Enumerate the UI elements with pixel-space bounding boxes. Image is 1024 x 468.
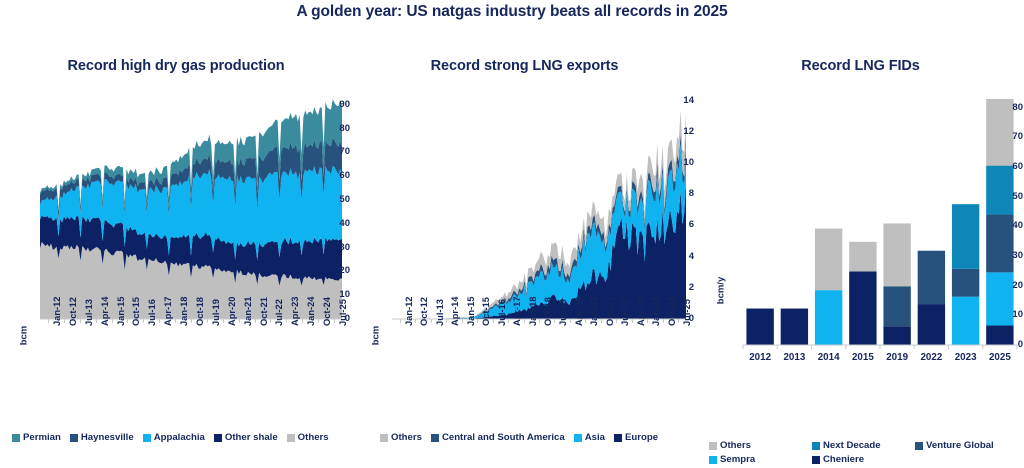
bar-segment-2022-cheniere bbox=[918, 304, 945, 345]
bar-segment-2014-others bbox=[815, 228, 842, 290]
x-tick-mark bbox=[255, 319, 256, 323]
x-tick-label: Oct-24 bbox=[667, 297, 677, 326]
x-tick-label: 2025 bbox=[983, 352, 1017, 363]
y-tick-label: 70 bbox=[991, 132, 1023, 142]
legend-dry-gas-item-other-shale[interactable]: Other shale bbox=[214, 432, 278, 443]
x-tick-mark bbox=[632, 319, 633, 323]
y-tick-label: 80 bbox=[991, 103, 1023, 113]
legend-dry-gas-item-haynesville[interactable]: Haynesville bbox=[70, 432, 134, 443]
x-tick-mark bbox=[601, 319, 602, 323]
panel-title-lng-exports: Record strong LNG exports bbox=[352, 58, 697, 74]
bar-segment-2022-venture-global bbox=[918, 251, 945, 304]
x-tick-label: Oct-15 bbox=[481, 297, 491, 326]
x-tick-mark bbox=[570, 319, 571, 323]
x-tick-label: Jan-21 bbox=[243, 297, 253, 326]
x-tick-mark bbox=[286, 319, 287, 323]
x-tick-label: 2015 bbox=[846, 352, 880, 363]
x-tick-label: 2012 bbox=[743, 352, 777, 363]
bar-segment-2019-venture-global bbox=[883, 286, 910, 326]
x-tick-mark bbox=[302, 319, 303, 323]
x-tick-label: Jul-22 bbox=[274, 299, 284, 326]
panel-lng-exports: Record strong LNG exports bcm 0246810121… bbox=[352, 40, 697, 459]
y-tick-label: 30 bbox=[322, 243, 350, 253]
x-tick-mark bbox=[678, 319, 679, 323]
y-tick-label: 70 bbox=[322, 147, 350, 157]
legend-swatch-icon bbox=[287, 434, 295, 442]
y-tick-label: 12 bbox=[666, 127, 694, 137]
bar-segment-2015-cheniere bbox=[849, 271, 876, 345]
x-tick-label: Jul-16 bbox=[147, 299, 157, 326]
bar-chart-lng-fids: 0102030405060708020122013201420152019202… bbox=[705, 85, 1023, 385]
x-tick-mark bbox=[175, 319, 176, 323]
legend-lng-exports-item-asia[interactable]: Asia bbox=[574, 432, 605, 443]
panel-lng-fids: Record LNG FIDs bcm/y 010203040506070802… bbox=[697, 40, 1024, 459]
x-tick-label: Jul-19 bbox=[211, 299, 221, 326]
legend-lng-fids: OthersNext DecadeVenture GlobalSempraChe… bbox=[709, 440, 1024, 468]
y-tick-label: 40 bbox=[991, 221, 1023, 231]
x-tick-label: 2023 bbox=[949, 352, 983, 363]
legend-dry-gas-production: PermianHaynesvilleAppalachiaOther shaleO… bbox=[12, 432, 350, 443]
x-tick-mark bbox=[554, 319, 555, 323]
legend-swatch-icon bbox=[709, 442, 717, 450]
bar-segment-2014-sempra bbox=[815, 290, 842, 345]
x-tick-label: Oct-15 bbox=[131, 297, 141, 326]
y-tick-label: 2 bbox=[666, 283, 694, 293]
page-title: A golden year: US natgas industry beats … bbox=[0, 3, 1024, 21]
x-tick-mark bbox=[585, 319, 586, 323]
x-tick-mark bbox=[143, 319, 144, 323]
x-tick-mark bbox=[400, 319, 401, 323]
y-tick-label: 6 bbox=[666, 220, 694, 230]
legend-swatch-icon bbox=[574, 434, 582, 442]
x-tick-mark bbox=[64, 319, 65, 323]
area-chart-dry-gas-production: 0102030405060708090Jan-12Oct-12Jul-13Apr… bbox=[6, 85, 350, 385]
area-plot-surface bbox=[6, 85, 350, 385]
x-tick-label: Apr-20 bbox=[574, 297, 584, 326]
bar-segment-2019-others bbox=[883, 223, 910, 286]
bar-plot-surface bbox=[705, 85, 1023, 385]
x-tick-mark bbox=[207, 319, 208, 323]
x-tick-label: Oct-18 bbox=[195, 297, 205, 326]
x-tick-label: Jan-18 bbox=[179, 297, 189, 326]
x-tick-mark bbox=[477, 319, 478, 323]
x-tick-label: Jul-25 bbox=[682, 299, 692, 326]
legend-item-label: Others bbox=[391, 432, 422, 443]
x-tick-mark bbox=[647, 319, 648, 323]
x-tick-mark bbox=[334, 319, 335, 323]
legend-item-label: Haynesville bbox=[81, 432, 134, 443]
legend-swatch-icon bbox=[143, 434, 151, 442]
x-tick-label: Jul-13 bbox=[435, 299, 445, 326]
x-tick-mark bbox=[112, 319, 113, 323]
legend-dry-gas-item-others[interactable]: Others bbox=[287, 432, 329, 443]
legend-swatch-icon bbox=[614, 434, 622, 442]
bar-segment-2013-cheniere bbox=[781, 309, 808, 345]
bar-segment-2023-next-decade bbox=[952, 204, 979, 269]
legend-lng-fids-item-venture-global[interactable]: Venture Global bbox=[915, 440, 1018, 451]
y-tick-label: 30 bbox=[991, 251, 1023, 261]
x-tick-label: Oct-12 bbox=[68, 297, 78, 326]
x-tick-mark bbox=[539, 319, 540, 323]
x-tick-label: Jan-15 bbox=[466, 297, 476, 326]
x-tick-mark bbox=[415, 319, 416, 323]
legend-lng-fids-item-sempra[interactable]: Sempra bbox=[709, 454, 812, 465]
panel-title-lng-fids: Record LNG FIDs bbox=[697, 58, 1024, 74]
infographic-root: A golden year: US natgas industry beats … bbox=[0, 0, 1024, 459]
x-tick-label: Jan-24 bbox=[306, 297, 316, 326]
x-tick-mark bbox=[239, 319, 240, 323]
y-tick-label: 8 bbox=[666, 189, 694, 199]
panel-title-dry-gas: Record high dry gas production bbox=[0, 58, 352, 74]
y-tick-label: 20 bbox=[991, 281, 1023, 291]
x-tick-mark bbox=[80, 319, 81, 323]
x-tick-label: Oct-21 bbox=[259, 297, 269, 326]
legend-item-label: Central and South America bbox=[442, 432, 565, 443]
x-tick-label: Apr-20 bbox=[227, 297, 237, 326]
x-tick-label: Jul-16 bbox=[497, 299, 507, 326]
legend-swatch-icon bbox=[380, 434, 388, 442]
legend-swatch-icon bbox=[431, 434, 439, 442]
x-tick-mark bbox=[616, 319, 617, 323]
legend-swatch-icon bbox=[214, 434, 222, 442]
y-tick-label: 80 bbox=[322, 124, 350, 134]
legend-item-label: Europe bbox=[625, 432, 658, 443]
y-tick-label: 60 bbox=[322, 171, 350, 181]
x-tick-label: 2019 bbox=[880, 352, 914, 363]
y-tick-label: 20 bbox=[322, 266, 350, 276]
x-tick-label: 2014 bbox=[812, 352, 846, 363]
y-tick-label: 10 bbox=[991, 310, 1023, 320]
x-tick-mark bbox=[508, 319, 509, 323]
x-tick-label: Jul-25 bbox=[338, 299, 348, 326]
x-tick-label: Jan-18 bbox=[528, 297, 538, 326]
legend-dry-gas-item-appalachia[interactable]: Appalachia bbox=[143, 432, 205, 443]
x-tick-mark bbox=[663, 319, 664, 323]
x-tick-label: Apr-14 bbox=[450, 297, 460, 326]
panel-dry-gas-production: Record high dry gas production bcm 01020… bbox=[0, 40, 352, 459]
legend-lng-fids-item-next-decade[interactable]: Next Decade bbox=[812, 440, 915, 451]
legend-swatch-icon bbox=[812, 456, 820, 464]
legend-item-label: Appalachia bbox=[154, 432, 205, 443]
bar-segment-2023-sempra bbox=[952, 297, 979, 345]
y-tick-label: 40 bbox=[322, 219, 350, 229]
bar-segment-2019-cheniere bbox=[883, 326, 910, 345]
legend-item-label: Venture Global bbox=[926, 440, 994, 451]
x-tick-label: Jul-19 bbox=[558, 299, 568, 326]
x-tick-mark bbox=[524, 319, 525, 323]
legend-lng-exports: OthersCentral and South AmericaAsiaEurop… bbox=[380, 432, 692, 443]
x-tick-label: Jan-15 bbox=[116, 297, 126, 326]
x-tick-label: Apr-23 bbox=[290, 297, 300, 326]
x-tick-label: Oct-24 bbox=[322, 297, 332, 326]
legend-swatch-icon bbox=[915, 442, 923, 450]
x-tick-mark bbox=[48, 319, 49, 323]
x-tick-label: Jan-24 bbox=[651, 297, 661, 326]
x-tick-label: Apr-23 bbox=[636, 297, 646, 326]
x-tick-label: Apr-17 bbox=[163, 297, 173, 326]
x-tick-mark bbox=[318, 319, 319, 323]
legend-swatch-icon bbox=[70, 434, 78, 442]
legend-item-label: Sempra bbox=[720, 454, 755, 465]
x-tick-label: 2013 bbox=[777, 352, 811, 363]
legend-swatch-icon bbox=[12, 434, 20, 442]
legend-lng-fids-item-cheniere[interactable]: Cheniere bbox=[812, 454, 915, 465]
legend-dry-gas-item-permian[interactable]: Permian bbox=[12, 432, 61, 443]
y-tick-label: 90 bbox=[322, 100, 350, 110]
y-tick-label: 50 bbox=[991, 192, 1023, 202]
x-tick-mark bbox=[270, 319, 271, 323]
legend-item-label: Other shale bbox=[225, 432, 278, 443]
legend-item-label: Asia bbox=[585, 432, 605, 443]
legend-lng-exports-item-europe[interactable]: Europe bbox=[614, 432, 658, 443]
y-tick-label: 14 bbox=[666, 96, 694, 106]
y-tick-label: 0 bbox=[991, 340, 1023, 350]
legend-lng-exports-item-central-and-south-america[interactable]: Central and South America bbox=[431, 432, 565, 443]
x-tick-label: Oct-18 bbox=[543, 297, 553, 326]
x-tick-label: Apr-17 bbox=[512, 297, 522, 326]
legend-item-label: Others bbox=[720, 440, 751, 451]
legend-item-label: Cheniere bbox=[823, 454, 864, 465]
legend-item-label: Others bbox=[298, 432, 329, 443]
x-tick-mark bbox=[96, 319, 97, 323]
x-tick-label: 2022 bbox=[914, 352, 948, 363]
x-tick-label: Jan-12 bbox=[52, 297, 62, 326]
x-tick-label: Oct-12 bbox=[419, 297, 429, 326]
x-tick-mark bbox=[462, 319, 463, 323]
y-tick-label: 60 bbox=[991, 162, 1023, 172]
x-tick-label: Apr-14 bbox=[100, 297, 110, 326]
x-tick-mark bbox=[191, 319, 192, 323]
x-tick-mark bbox=[493, 319, 494, 323]
bar-segment-2025-next-decade bbox=[986, 166, 1013, 215]
y-tick-label: 50 bbox=[322, 195, 350, 205]
area-plot-surface bbox=[358, 85, 694, 385]
x-tick-mark bbox=[446, 319, 447, 323]
x-tick-label: Jan-12 bbox=[404, 297, 414, 326]
x-tick-mark bbox=[431, 319, 432, 323]
legend-lng-exports-item-others[interactable]: Others bbox=[380, 432, 422, 443]
x-tick-mark bbox=[223, 319, 224, 323]
x-tick-mark bbox=[159, 319, 160, 323]
y-tick-label: 10 bbox=[666, 158, 694, 168]
legend-item-label: Next Decade bbox=[823, 440, 881, 451]
legend-lng-fids-item-others[interactable]: Others bbox=[709, 440, 812, 451]
legend-swatch-icon bbox=[709, 456, 717, 464]
x-tick-mark bbox=[127, 319, 128, 323]
x-tick-label: Jan-21 bbox=[589, 297, 599, 326]
bar-segment-2015-others bbox=[849, 242, 876, 272]
bar-segment-2012-cheniere bbox=[746, 309, 773, 345]
area-chart-lng-exports: 02468101214Jan-12Oct-12Jul-13Apr-14Jan-1… bbox=[358, 85, 694, 385]
x-tick-label: Jul-22 bbox=[620, 299, 630, 326]
y-tick-label: 4 bbox=[666, 252, 694, 262]
legend-item-label: Permian bbox=[23, 432, 61, 443]
x-tick-label: Jul-13 bbox=[84, 299, 94, 326]
bar-segment-2023-venture-global bbox=[952, 269, 979, 297]
legend-swatch-icon bbox=[812, 442, 820, 450]
x-tick-label: Oct-21 bbox=[605, 297, 615, 326]
